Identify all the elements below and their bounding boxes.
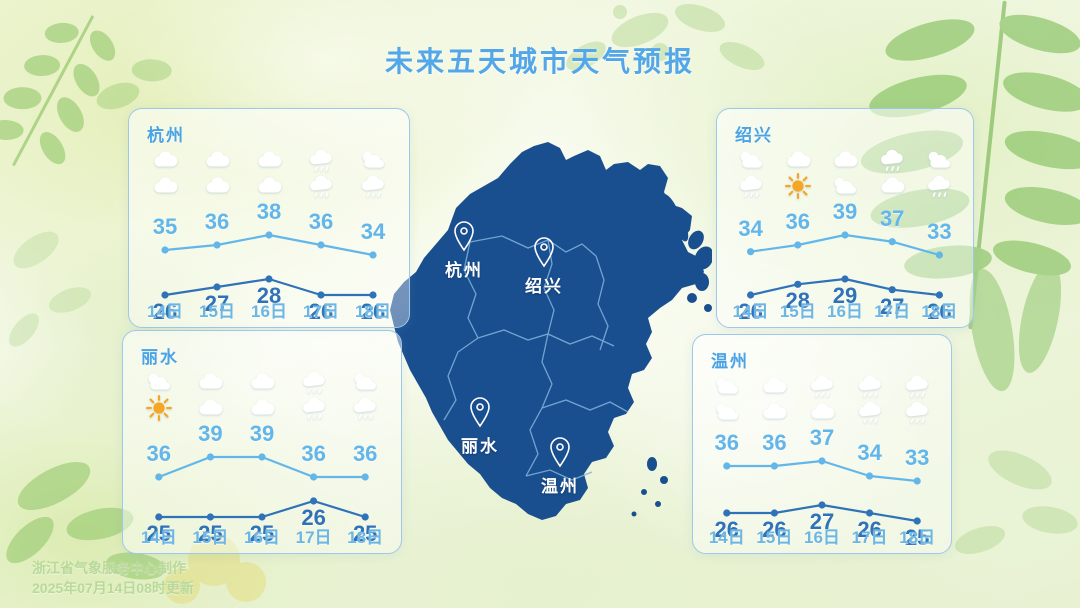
date-label: 15日: [780, 297, 816, 322]
date-label: 18日: [355, 297, 391, 322]
date-label: 17日: [303, 297, 339, 322]
rain-icon: [922, 173, 956, 204]
day-column[interactable]: 342617日: [846, 335, 894, 553]
high-temp-value: 39: [833, 199, 857, 225]
high-temp-value: 36: [353, 441, 377, 467]
day-column[interactable]: 362615日: [751, 335, 799, 553]
map-label-shaoxing: 绍兴: [525, 272, 563, 297]
map-label-hangzhou: 杭州: [445, 256, 483, 281]
page-title: 未来五天城市天气预报: [0, 40, 1080, 80]
day-column[interactable]: 332518日: [893, 335, 941, 553]
date-label: 17日: [296, 523, 332, 548]
map-landmass: [390, 142, 712, 520]
map-label-wenzhou: 温州: [541, 472, 579, 497]
high-temp-value: 36: [309, 209, 333, 235]
date-label: 14日: [733, 297, 769, 322]
cloudy-icon: [148, 173, 182, 204]
day-column[interactable]: 372717日: [869, 109, 916, 327]
high-temp-value: 36: [301, 441, 325, 467]
high-temp-value: 36: [762, 430, 786, 456]
day-column[interactable]: 342618日: [347, 109, 399, 327]
date-label: 16日: [251, 297, 287, 322]
day-column[interactable]: 362514日: [133, 331, 185, 553]
day-column[interactable]: 392515日: [185, 331, 237, 553]
day-column[interactable]: 362518日: [339, 331, 391, 553]
sun-icon: [142, 395, 176, 426]
day-column[interactable]: 332618日: [916, 109, 963, 327]
rain-icon: [853, 399, 887, 430]
day-column[interactable]: 362617日: [288, 331, 340, 553]
map-label-lishui: 丽水: [461, 432, 499, 457]
high-temp-value: 38: [257, 199, 281, 225]
weather-infographic: 未来五天城市天气预报: [0, 0, 1080, 608]
high-temp-value: 34: [738, 216, 762, 242]
high-temp-value: 36: [205, 209, 229, 235]
weather-panel-lishui[interactable]: 丽水 362514日 392515日 392516日 362617日: [122, 330, 402, 554]
day-column[interactable]: 372716日: [798, 335, 846, 553]
partly-cloudy-icon: [710, 399, 744, 430]
high-temp-value: 34: [361, 219, 385, 245]
date-label: 15日: [192, 523, 228, 548]
day-column[interactable]: 362815日: [774, 109, 821, 327]
date-label: 15日: [756, 523, 792, 548]
footer-line-1: 浙江省气象服务中心制作: [32, 558, 194, 578]
date-label: 18日: [347, 523, 383, 548]
day-column[interactable]: 392516日: [236, 331, 288, 553]
cloudy-icon: [757, 399, 791, 430]
date-label: 18日: [921, 297, 957, 322]
high-temp-value: 36: [715, 430, 739, 456]
weather-panel-shaoxing[interactable]: 绍兴 342614日 362815日 392916日 372717日: [716, 108, 974, 328]
date-label: 16日: [804, 523, 840, 548]
day-column[interactable]: 352614日: [139, 109, 191, 327]
footer-credit: 浙江省气象服务中心制作 2025年07月14日08时更新: [32, 558, 194, 598]
day-column[interactable]: 382816日: [243, 109, 295, 327]
rain-icon: [304, 173, 338, 204]
date-label: 17日: [852, 523, 888, 548]
high-temp-value: 33: [927, 219, 951, 245]
weather-panel-hangzhou[interactable]: 杭州 352614日 362715日 382816日 362617日: [128, 108, 410, 328]
cloudy-icon: [200, 173, 234, 204]
high-temp-value: 35: [153, 214, 177, 240]
day-column[interactable]: 392916日: [821, 109, 868, 327]
date-label: 15日: [199, 297, 235, 322]
high-temp-value: 33: [905, 445, 929, 471]
day-column[interactable]: 362715日: [191, 109, 243, 327]
cloudy-icon: [875, 173, 909, 204]
weather-panel-wenzhou[interactable]: 温州 362614日 362615日 372716日: [692, 334, 952, 554]
rain-icon: [356, 173, 390, 204]
high-temp-value: 37: [810, 425, 834, 451]
high-temp-value: 34: [857, 440, 881, 466]
rain-icon: [348, 395, 382, 426]
high-temp-value: 39: [250, 421, 274, 447]
rain-icon: [734, 173, 768, 204]
day-column[interactable]: 362617日: [295, 109, 347, 327]
day-column[interactable]: 362614日: [703, 335, 751, 553]
footer-line-2: 2025年07月14日08时更新: [32, 578, 194, 598]
date-label: 17日: [874, 297, 910, 322]
high-temp-value: 36: [786, 209, 810, 235]
date-label: 16日: [244, 523, 280, 548]
date-label: 14日: [141, 523, 177, 548]
high-temp-value: 39: [198, 421, 222, 447]
high-temp-value: 37: [880, 206, 904, 232]
day-column[interactable]: 342614日: [727, 109, 774, 327]
date-label: 14日: [147, 297, 183, 322]
date-label: 16日: [827, 297, 863, 322]
high-temp-value: 36: [147, 441, 171, 467]
rain-icon: [900, 399, 934, 430]
date-label: 14日: [709, 523, 745, 548]
date-label: 18日: [899, 523, 935, 548]
sun-icon: [781, 173, 815, 204]
rain-icon: [297, 395, 331, 426]
